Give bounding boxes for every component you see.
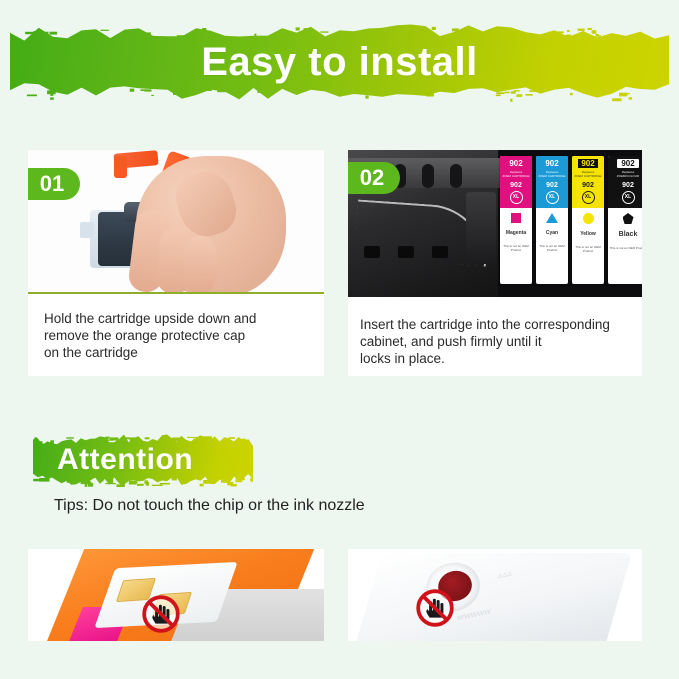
- attention-banner: Attention: [33, 433, 253, 487]
- printer-slot: [422, 164, 434, 188]
- attention-tip-text: Tips: Do not touch the chip or the ink n…: [54, 497, 365, 515]
- printer-slot: [450, 164, 462, 188]
- cartridge-model-xl: 902: [510, 182, 522, 189]
- cartridge-color-name: Yellow: [572, 231, 604, 237]
- triangle-icon: [546, 213, 558, 223]
- step-caption-02: Insert the cartridge into the correspond…: [348, 308, 642, 367]
- cartridge-xl-badge: XL: [582, 191, 595, 204]
- cartridge-replaces: Replaces #OEM CARTRIDGE: [575, 170, 602, 178]
- cartridge-model: 902: [578, 159, 597, 168]
- step-badge-02: 02: [348, 162, 400, 194]
- card-divider: [28, 292, 324, 294]
- step-caption-01: Hold the cartridge upside down and remov…: [28, 302, 324, 361]
- circle-icon: [583, 213, 594, 224]
- cartridge-model-xl: 902: [582, 182, 594, 189]
- cartridge-cyan: 902 Replaces #OEM CARTRIDGE 902 XL Cyan …: [536, 156, 568, 284]
- attention-title: Attention: [33, 433, 253, 487]
- cartridge-replaces: Replaces #OEM CARTRIDGE: [503, 170, 530, 178]
- cartridge-model: 902: [545, 159, 558, 168]
- cartridge-model-xl: 902: [546, 182, 558, 189]
- cartridge-fine-print: This is not an OEM Product: [572, 245, 604, 253]
- cartridge-fine-print: This is not an OEM Product: [608, 246, 642, 250]
- warning-photo-chip: [28, 549, 324, 641]
- step-card-02: 02 902 Replaces #OEM CARTRIDGE 902 XL: [348, 150, 642, 376]
- square-icon: [511, 213, 521, 223]
- cartridge-model-xl: 902: [622, 182, 634, 189]
- cartridge-yellow: 902 Replaces #OEM CARTRIDGE 902 XL Yello…: [572, 156, 604, 284]
- cartridge-xl-badge: XL: [622, 191, 635, 204]
- cartridge-replaces: Replaces #OEM CARTRIDGE: [539, 170, 566, 178]
- no-touch-hand-icon: [140, 593, 182, 635]
- cartridge-xl-badge: XL: [510, 191, 523, 204]
- cartridge-magenta: 902 Replaces #OEM CARTRIDGE 902 XL Magen…: [500, 156, 532, 284]
- cartridge-color-name: Cyan: [536, 230, 568, 236]
- cartridge-model: 902: [509, 159, 522, 168]
- white-cartridge-body: [354, 553, 632, 641]
- cartridge-color-name: Magenta: [500, 230, 532, 236]
- cartridge-fine-print: This is not an OEM Product: [500, 244, 532, 252]
- step-badge-01: 01: [28, 168, 80, 200]
- pentagon-icon: [623, 213, 634, 224]
- step-card-01: 01 Hold the cartridge upside down and re…: [28, 150, 324, 376]
- hand-finger: [183, 235, 217, 292]
- cartridge-black: 902 Replaces #OEM/COLOUR 902 XL Black Th…: [608, 156, 642, 284]
- header-title: Easy to install: [10, 22, 669, 102]
- cartridge-replaces: Replaces #OEM/COLOUR: [617, 170, 639, 178]
- printer-divider-block: [466, 192, 496, 264]
- warning-photo-nozzle: ▵▵▵ wwwww: [348, 549, 642, 641]
- cartridge-xl-badge: XL: [546, 191, 559, 204]
- cartridge-fine-print: This is not an OEM Product: [536, 244, 568, 252]
- cartridge-color-name: Black: [608, 231, 642, 238]
- cartridge-model: 902: [617, 159, 638, 168]
- header-banner: Easy to install: [10, 22, 669, 102]
- cartridge-tab: [80, 222, 94, 238]
- no-touch-hand-icon: [414, 587, 456, 629]
- orange-cap-hook-end: [114, 156, 127, 178]
